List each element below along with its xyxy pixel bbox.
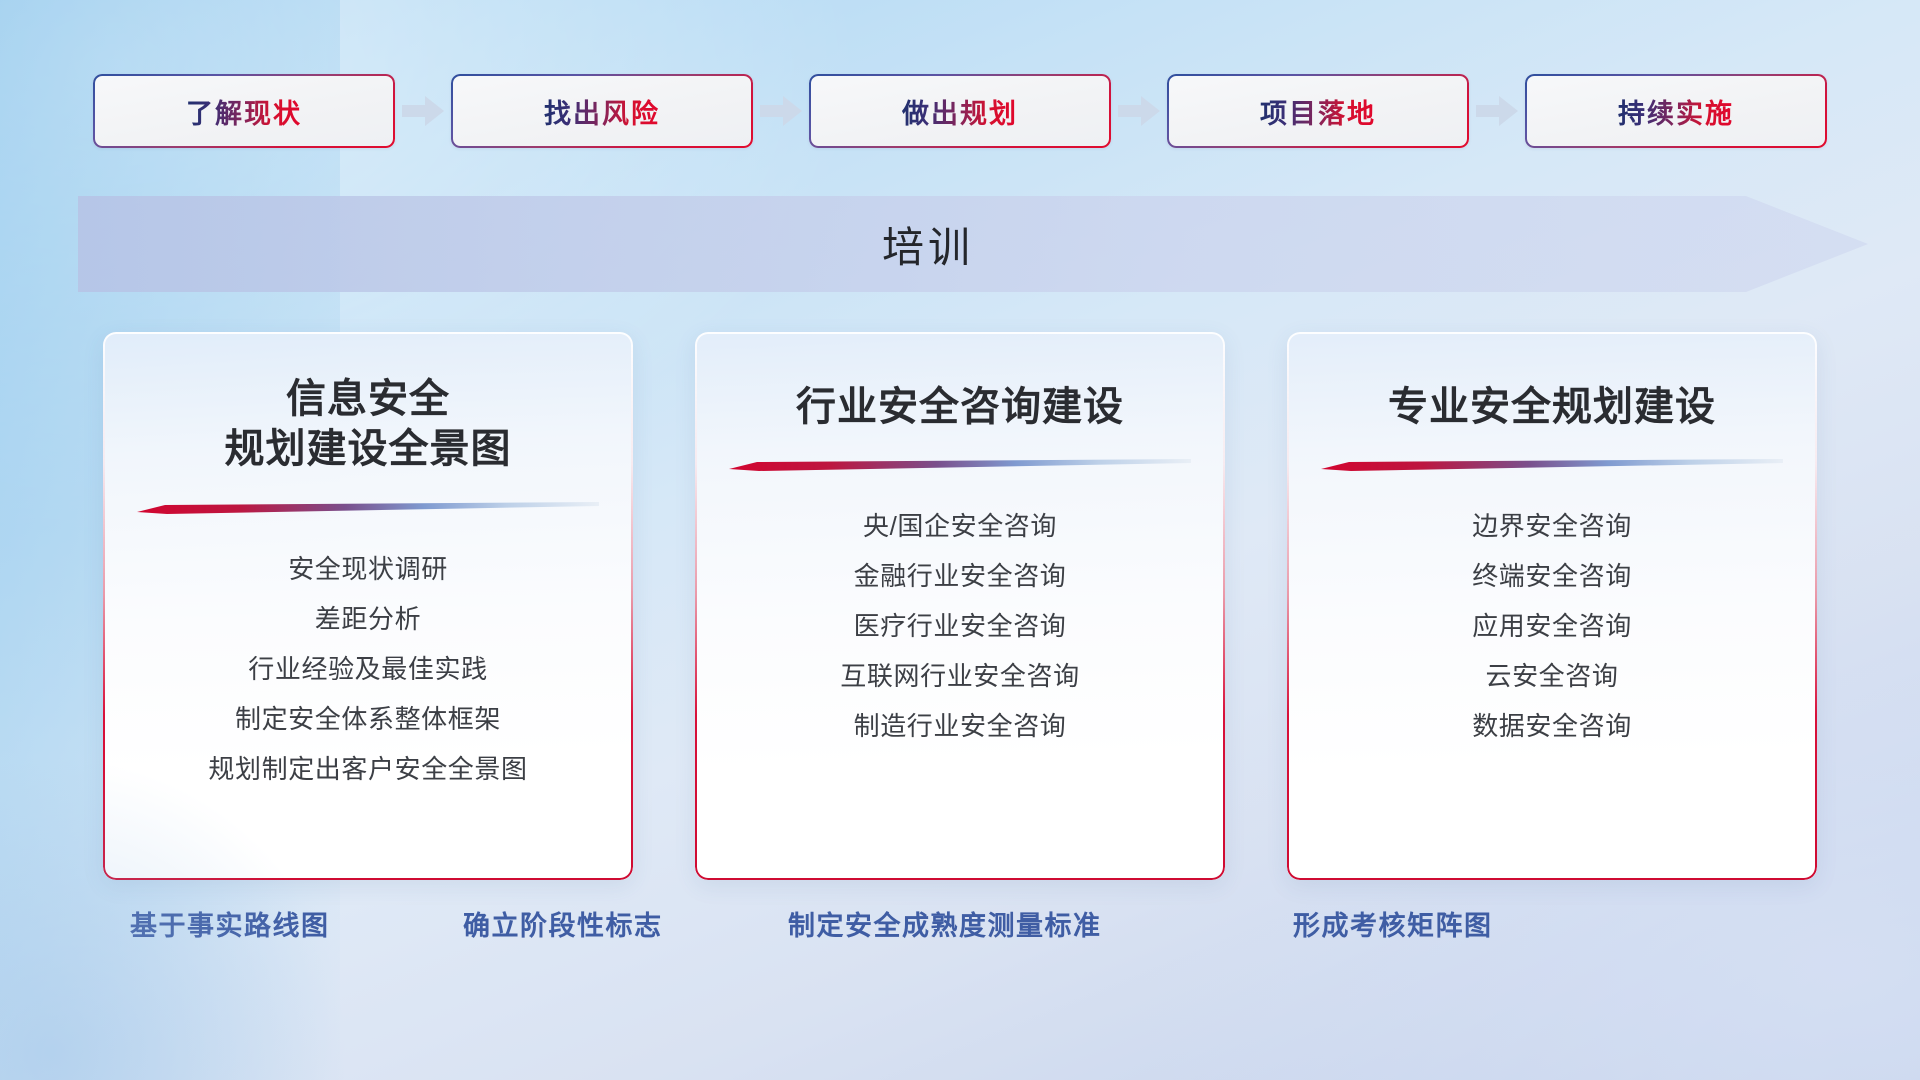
- card-item-list: 安全现状调研 差距分析 行业经验及最佳实践 制定安全体系整体框架 规划制定出客户…: [208, 544, 527, 794]
- gradient-rule-icon: [137, 501, 599, 514]
- footer-label-3: 制定安全成熟度测量标准: [788, 905, 1102, 947]
- process-connector-arrow-3: [1111, 74, 1167, 148]
- slide-canvas: 了解现状 找出风险 做出规划 项目落地: [0, 0, 1920, 1080]
- card-item-list: 央/国企安全咨询 金融行业安全咨询 医疗行业安全咨询 互联网行业安全咨询 制造行…: [840, 501, 1079, 751]
- card-information-security-blueprint[interactable]: 信息安全 规划建设全景图: [103, 332, 633, 880]
- process-step-label: 了解现状: [186, 92, 302, 131]
- card-title: 信息安全 规划建设全景图: [225, 374, 512, 475]
- list-item: 医疗行业安全咨询: [854, 601, 1067, 651]
- list-item: 边界安全咨询: [1472, 501, 1632, 551]
- card-row: 信息安全 规划建设全景图: [0, 332, 1920, 880]
- list-item: 制定安全体系整体框架: [235, 694, 501, 744]
- list-item: 央/国企安全咨询: [863, 501, 1057, 551]
- card-divider: [137, 501, 599, 514]
- process-flow: 了解现状 找出风险 做出规划 项目落地: [0, 72, 1920, 150]
- process-step-label: 做出规划: [902, 92, 1018, 131]
- list-item: 应用安全咨询: [1472, 601, 1632, 651]
- banner-label-wrap: 培训: [78, 196, 1778, 292]
- list-item: 云安全咨询: [1485, 651, 1618, 701]
- card-item-list: 边界安全咨询 终端安全咨询 应用安全咨询 云安全咨询 数据安全咨询: [1472, 501, 1632, 751]
- footer-label-4: 形成考核矩阵图: [1293, 905, 1493, 947]
- right-arrow-icon: [1118, 96, 1160, 126]
- list-item: 差距分析: [315, 594, 421, 644]
- footer-label-row: 基于事实路线图 确立阶段性标志 制定安全成熟度测量标准 形成考核矩阵图: [0, 905, 1920, 969]
- card-content: 专业安全规划建设: [1287, 332, 1817, 880]
- card-title: 专业安全规划建设: [1388, 382, 1716, 432]
- list-item: 数据安全咨询: [1472, 701, 1632, 751]
- right-arrow-icon: [402, 96, 444, 126]
- right-arrow-icon: [760, 96, 802, 126]
- process-step-label: 项目落地: [1260, 92, 1376, 131]
- process-step-label: 持续实施: [1618, 92, 1734, 131]
- card-content: 信息安全 规划建设全景图: [103, 332, 633, 880]
- footer-label-2: 确立阶段性标志: [463, 905, 663, 947]
- process-connector-arrow-2: [753, 74, 809, 148]
- banner-label: 培训: [882, 214, 974, 275]
- process-connector-arrow-4: [1469, 74, 1525, 148]
- card-content: 行业安全咨询建设: [695, 332, 1225, 880]
- list-item: 终端安全咨询: [1472, 551, 1632, 601]
- process-step-5[interactable]: 持续实施: [1525, 74, 1827, 148]
- process-step-1[interactable]: 了解现状: [93, 74, 395, 148]
- card-divider: [1321, 458, 1783, 471]
- list-item: 行业经验及最佳实践: [248, 644, 487, 694]
- list-item: 互联网行业安全咨询: [840, 651, 1079, 701]
- process-step-2[interactable]: 找出风险: [451, 74, 753, 148]
- training-banner: 培训: [78, 196, 1868, 292]
- card-title: 行业安全咨询建设: [796, 382, 1124, 432]
- right-arrow-icon: [1476, 96, 1518, 126]
- card-professional-security-planning[interactable]: 专业安全规划建设: [1287, 332, 1817, 880]
- gradient-rule-icon: [1321, 458, 1783, 471]
- gradient-rule-icon: [729, 458, 1191, 471]
- list-item: 金融行业安全咨询: [854, 551, 1067, 601]
- process-step-4[interactable]: 项目落地: [1167, 74, 1469, 148]
- list-item: 规划制定出客户安全全景图: [208, 744, 527, 794]
- process-connector-arrow-1: [395, 74, 451, 148]
- process-step-label: 找出风险: [544, 92, 660, 131]
- process-step-3[interactable]: 做出规划: [809, 74, 1111, 148]
- list-item: 安全现状调研: [288, 544, 448, 594]
- footer-label-1: 基于事实路线图: [130, 905, 330, 947]
- card-divider: [729, 458, 1191, 471]
- list-item: 制造行业安全咨询: [854, 701, 1067, 751]
- card-industry-security-consulting[interactable]: 行业安全咨询建设: [695, 332, 1225, 880]
